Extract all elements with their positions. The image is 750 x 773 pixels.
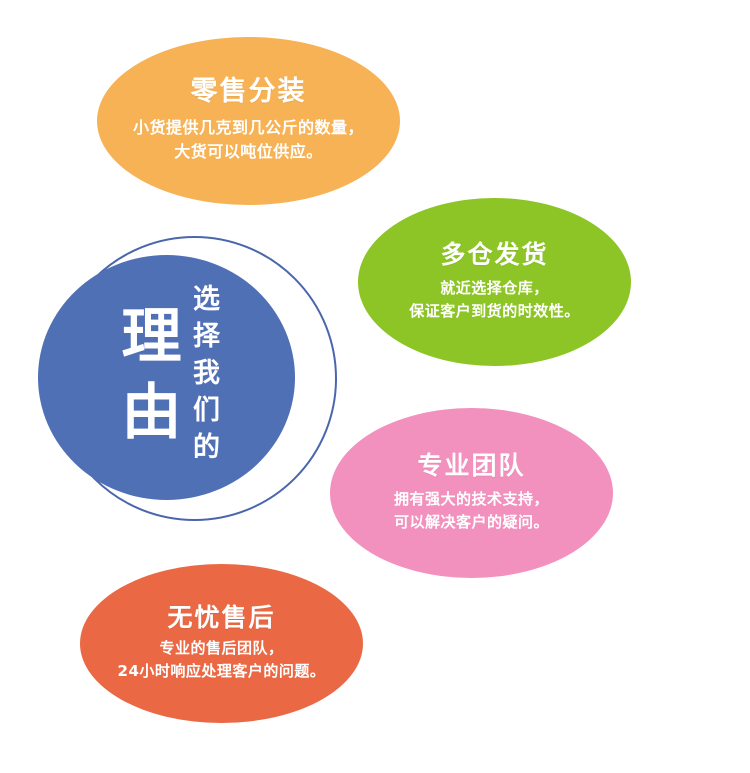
bubble-retail-line-2: 大货可以吨位供应。	[133, 140, 364, 165]
bubble-team-description: 拥有强大的技术支持， 可以解决客户的疑问。	[394, 488, 549, 535]
bubble-team-title: 专业团队	[417, 452, 525, 480]
center-main-heading: 理由	[116, 300, 176, 456]
bubble-retail-line-1: 小货提供几克到几公斤的数量，	[133, 116, 364, 141]
bubble-warehouse[interactable]: 多仓发货 就近选择仓库， 保证客户到货的时效性。	[358, 198, 631, 366]
center-text-group: 理由 选择我们的	[38, 255, 295, 500]
bubble-aftersales-line-1: 专业的售后团队，	[118, 637, 326, 660]
bubble-aftersales-description: 专业的售后团队， 24小时响应处理客户的问题。	[118, 637, 326, 684]
bubble-retail-description: 小货提供几克到几公斤的数量， 大货可以吨位供应。	[133, 116, 364, 166]
bubble-aftersales[interactable]: 无忧售后 专业的售后团队， 24小时响应处理客户的问题。	[80, 564, 363, 723]
bubble-team-line-1: 拥有强大的技术支持，	[394, 488, 549, 511]
bubble-warehouse-description: 就近选择仓库， 保证客户到货的时效性。	[409, 277, 580, 324]
bubble-warehouse-title: 多仓发货	[440, 241, 548, 269]
center-cluster[interactable]: 理由 选择我们的	[30, 228, 340, 533]
bubble-team-line-2: 可以解决客户的疑问。	[394, 511, 549, 534]
bubble-warehouse-line-2: 保证客户到货的时效性。	[409, 300, 580, 323]
center-vertical-subheading: 选择我们的	[190, 282, 217, 474]
bubble-aftersales-title: 无忧售后	[167, 604, 275, 632]
bubble-retail[interactable]: 零售分装 小货提供几克到几公斤的数量， 大货可以吨位供应。	[97, 37, 400, 205]
bubble-retail-title: 零售分装	[191, 77, 307, 107]
bubble-aftersales-line-2: 24小时响应处理客户的问题。	[118, 660, 326, 683]
bubble-team[interactable]: 专业团队 拥有强大的技术支持， 可以解决客户的疑问。	[330, 408, 613, 578]
bubble-warehouse-line-1: 就近选择仓库，	[409, 277, 580, 300]
infographic-canvas: 零售分装 小货提供几克到几公斤的数量， 大货可以吨位供应。 多仓发货 就近选择仓…	[0, 0, 750, 773]
